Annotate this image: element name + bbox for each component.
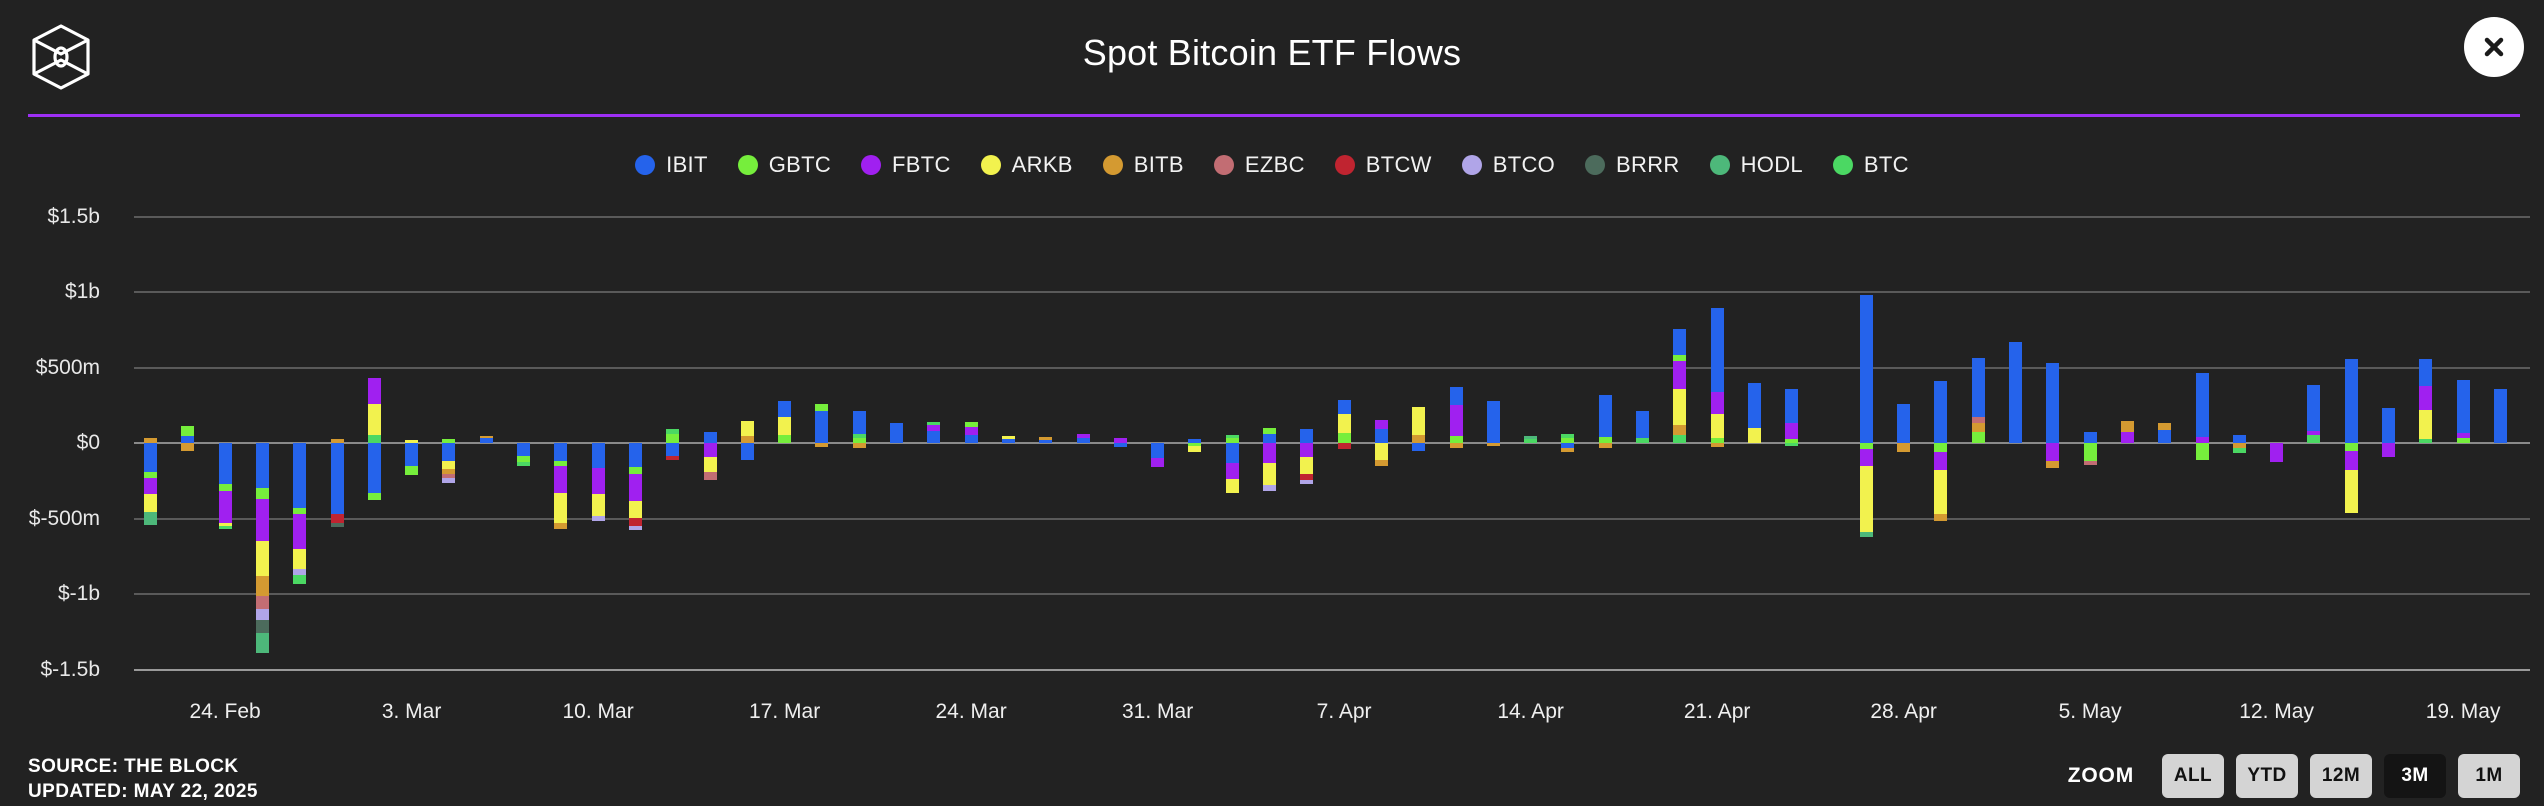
chart-bar[interactable] <box>405 0 418 806</box>
chart-bar[interactable] <box>293 0 306 806</box>
bar-segment <box>741 436 754 443</box>
bar-segment <box>2084 461 2097 465</box>
bar-segment <box>1524 436 1537 439</box>
bar-segment <box>368 493 381 500</box>
chart-bar[interactable] <box>965 0 978 806</box>
bar-segment <box>778 435 791 443</box>
bar-segment <box>1300 480 1313 484</box>
bar-segment <box>1412 407 1425 436</box>
chart-bar[interactable] <box>1151 0 1164 806</box>
bar-segment <box>1226 463 1239 480</box>
bar-segment <box>1338 443 1351 449</box>
bar-segment <box>927 431 940 443</box>
bar-segment <box>2494 389 2507 443</box>
bar-segment <box>1226 479 1239 493</box>
bar-segment <box>256 488 269 499</box>
bar-segment <box>219 484 232 492</box>
bar-segment <box>965 422 978 427</box>
bar-segment <box>181 443 194 451</box>
bar-segment <box>1785 443 1798 446</box>
chart-bar[interactable] <box>442 0 455 806</box>
bar-segment <box>256 596 269 610</box>
bar-segment <box>144 443 157 472</box>
bar-segment <box>442 443 455 461</box>
chart-bar[interactable] <box>1375 0 1388 806</box>
bar-segment <box>256 576 269 596</box>
chart-bar[interactable] <box>2196 0 2209 806</box>
bar-segment <box>2419 410 2432 439</box>
bar-segment <box>1487 401 1500 443</box>
chart-bar[interactable] <box>219 0 232 806</box>
chart-bar[interactable] <box>554 0 567 806</box>
chart-bar[interactable] <box>1748 0 1761 806</box>
bar-segment <box>1748 428 1761 443</box>
bar-segment <box>554 466 567 493</box>
bar-segment <box>1412 443 1425 451</box>
bar-segment <box>1860 466 1873 532</box>
chart-bar[interactable] <box>2270 0 2283 806</box>
y-axis-tick-label: $-1b <box>0 582 100 606</box>
bar-segment <box>2419 439 2432 443</box>
bar-segment <box>368 378 381 404</box>
bar-segment <box>2270 443 2283 462</box>
chart-plot-area: $1.5b$1b$500m$0$-500m$-1b$-1.5b24. Feb3.… <box>0 0 2544 806</box>
chart-bar[interactable] <box>1673 0 1686 806</box>
bar-segment <box>1934 470 1947 514</box>
bar-segment <box>1151 458 1164 467</box>
chart-bar[interactable] <box>1114 0 1127 806</box>
bar-segment <box>2009 342 2022 443</box>
chart-bar[interactable] <box>2419 0 2432 806</box>
bar-segment <box>1972 358 1985 417</box>
bar-segment <box>2084 432 2097 443</box>
bar-segment <box>181 436 194 443</box>
bar-segment <box>1039 440 1052 443</box>
bar-segment <box>1226 435 1239 439</box>
bar-segment <box>1673 355 1686 362</box>
bar-segment <box>1412 435 1425 443</box>
source-line: SOURCE: THE BLOCK <box>28 754 258 779</box>
bar-segment <box>1785 389 1798 422</box>
bar-segment <box>2457 380 2470 434</box>
bar-segment <box>1300 429 1313 443</box>
bar-segment <box>1226 443 1239 463</box>
bar-segment <box>2382 408 2395 443</box>
bar-segment <box>1188 446 1201 452</box>
bar-segment <box>2419 359 2432 385</box>
bar-segment <box>368 404 381 434</box>
bar-segment <box>405 466 418 475</box>
bar-segment <box>331 514 344 523</box>
chart-bar[interactable] <box>2382 0 2395 806</box>
bar-segment <box>1263 443 1276 463</box>
bar-segment <box>815 443 828 447</box>
bar-segment <box>927 422 940 425</box>
bar-segment <box>1077 438 1090 443</box>
bar-segment <box>219 491 232 523</box>
zoom-controls: ZOOM ALLYTD12M3M1M <box>2068 754 2520 798</box>
bar-segment <box>256 633 269 653</box>
bar-segment <box>368 443 381 493</box>
bar-segment <box>1673 361 1686 388</box>
zoom-label: ZOOM <box>2068 764 2134 788</box>
y-axis-tick-label: $0 <box>0 431 100 455</box>
bar-segment <box>1897 443 1910 452</box>
bar-segment <box>890 423 903 443</box>
bar-segment <box>1300 443 1313 457</box>
y-axis-tick-label: $-500m <box>0 507 100 531</box>
chart-bar[interactable] <box>181 0 194 806</box>
chart-bar[interactable] <box>331 0 344 806</box>
bar-segment <box>2457 438 2470 443</box>
bar-segment <box>1711 414 1724 438</box>
zoom-button-3m[interactable]: 3M <box>2384 754 2446 798</box>
chart-bar[interactable] <box>1972 0 1985 806</box>
bar-segment <box>592 443 605 468</box>
bar-segment <box>741 443 754 460</box>
chart-bar[interactable] <box>2158 0 2171 806</box>
bar-segment <box>1002 436 1015 439</box>
chart-bar[interactable] <box>2307 0 2320 806</box>
bar-segment <box>1375 443 1388 460</box>
chart-bar[interactable] <box>853 0 866 806</box>
bar-segment <box>2158 423 2171 430</box>
bar-segment <box>704 432 717 443</box>
bar-segment <box>1561 434 1574 439</box>
bar-segment <box>1375 420 1388 429</box>
bar-segment <box>405 443 418 466</box>
bar-segment <box>480 438 493 443</box>
chart-bar[interactable] <box>2457 0 2470 806</box>
bar-segment <box>2233 435 2246 443</box>
chart-bar[interactable] <box>368 0 381 806</box>
chart-bar[interactable] <box>256 0 269 806</box>
chart-bar[interactable] <box>480 0 493 806</box>
bar-segment <box>592 516 605 521</box>
chart-bar[interactable] <box>144 0 157 806</box>
bar-segment <box>1263 428 1276 434</box>
bar-segment <box>1711 308 1724 392</box>
bar-segment <box>815 404 828 411</box>
chart-bar[interactable] <box>1338 0 1351 806</box>
chart-bar[interactable] <box>1226 0 1239 806</box>
y-axis-tick-label: $1.5b <box>0 205 100 229</box>
chart-bar[interactable] <box>1823 0 1836 806</box>
chart-bar[interactable] <box>1188 0 1201 806</box>
bar-segment <box>1599 395 1612 437</box>
bar-segment <box>2233 448 2246 453</box>
bar-segment <box>1785 423 1798 440</box>
bar-segment <box>442 461 455 469</box>
bar-segment <box>1860 449 1873 466</box>
chart-modal: Spot Bitcoin ETF Flows IBITGBTCFBTCARKBB… <box>0 0 2544 806</box>
bar-segment <box>1263 434 1276 443</box>
bar-segment <box>2046 461 2059 468</box>
bar-segment <box>331 523 344 527</box>
chart-bar[interactable] <box>1524 0 1537 806</box>
chart-bar[interactable] <box>2494 0 2507 806</box>
bar-segment <box>1897 404 1910 443</box>
bar-segment <box>1972 432 1985 443</box>
chart-bar[interactable] <box>629 0 642 806</box>
bar-segment <box>1263 463 1276 486</box>
bar-segment <box>1673 425 1686 436</box>
bar-segment <box>1450 443 1463 448</box>
bar-segment <box>293 575 306 584</box>
bar-segment <box>1934 514 1947 521</box>
bar-segment <box>2345 443 2358 451</box>
updated-line: UPDATED: MAY 22, 2025 <box>28 779 258 804</box>
bar-segment <box>2345 359 2358 443</box>
chart-bar[interactable] <box>890 0 903 806</box>
bar-segment <box>1375 460 1388 466</box>
bar-segment <box>144 478 157 495</box>
zoom-button-all[interactable]: ALL <box>2162 754 2224 798</box>
bar-segment <box>517 443 530 456</box>
chart-bar[interactable] <box>2121 0 2134 806</box>
bar-segment <box>927 425 940 431</box>
bar-segment <box>1524 439 1537 443</box>
bar-segment <box>2046 363 2059 443</box>
bar-segment <box>2307 385 2320 431</box>
bar-segment <box>778 401 791 416</box>
chart-source-note: SOURCE: THE BLOCK UPDATED: MAY 22, 2025 <box>28 754 258 804</box>
bar-segment <box>2084 443 2097 461</box>
bar-segment <box>256 541 269 576</box>
bar-segment <box>815 411 828 443</box>
chart-bar[interactable] <box>1487 0 1500 806</box>
chart-bar[interactable] <box>1636 0 1649 806</box>
bar-segment <box>2196 443 2209 460</box>
bar-segment <box>592 494 605 516</box>
bar-segment <box>704 457 717 471</box>
bar-segment <box>554 443 567 461</box>
bar-segment <box>1039 437 1052 440</box>
bar-segment <box>554 523 567 529</box>
bar-segment <box>1599 443 1612 448</box>
bar-segment <box>1263 485 1276 491</box>
bar-segment <box>2046 443 2059 461</box>
bar-segment <box>592 468 605 494</box>
bar-segment <box>1450 387 1463 405</box>
bar-segment <box>293 443 306 508</box>
bar-segment <box>1450 405 1463 436</box>
bar-segment <box>1375 429 1388 443</box>
bar-segment <box>1972 417 1985 423</box>
bar-segment <box>1151 443 1164 458</box>
bar-segment <box>2196 373 2209 437</box>
bar-segment <box>2158 430 2171 443</box>
bar-segment <box>1077 434 1090 439</box>
bar-segment <box>778 417 791 435</box>
chart-bar[interactable] <box>1002 0 1015 806</box>
bar-segment <box>629 518 642 526</box>
bar-segment <box>1338 414 1351 434</box>
bar-segment <box>666 456 679 460</box>
bar-segment <box>666 434 679 443</box>
bar-segment <box>442 478 455 483</box>
bar-segment <box>181 426 194 436</box>
bar-segment <box>2121 421 2134 432</box>
zoom-button-1m[interactable]: 1M <box>2458 754 2520 798</box>
bar-segment <box>1972 423 1985 432</box>
chart-bar[interactable] <box>1263 0 1276 806</box>
chart-bar[interactable] <box>1561 0 1574 806</box>
bar-segment <box>1711 443 1724 447</box>
bar-segment <box>256 609 269 620</box>
bar-segment <box>965 435 978 443</box>
chart-bar[interactable] <box>592 0 605 806</box>
bar-segment <box>1002 439 1015 443</box>
bar-segment <box>2307 431 2320 436</box>
bar-segment <box>368 435 381 443</box>
bar-segment <box>256 499 269 541</box>
bar-segment <box>2457 433 2470 438</box>
chart-bar[interactable] <box>778 0 791 806</box>
chart-bar[interactable] <box>1785 0 1798 806</box>
bar-segment <box>1860 295 1873 443</box>
bar-segment <box>1860 532 1873 537</box>
chart-bar[interactable] <box>2046 0 2059 806</box>
bar-segment <box>666 443 679 456</box>
y-axis-tick-label: $1b <box>0 280 100 304</box>
bar-segment <box>965 427 978 435</box>
zoom-button-ytd[interactable]: YTD <box>2236 754 2298 798</box>
bar-segment <box>629 443 642 467</box>
bar-segment <box>256 443 269 488</box>
bar-segment <box>331 443 344 514</box>
y-axis-tick-label: $-1.5b <box>0 658 100 682</box>
bar-segment <box>554 493 567 523</box>
bar-segment <box>1338 433 1351 443</box>
bar-segment <box>629 526 642 530</box>
bar-segment <box>1673 329 1686 355</box>
bar-segment <box>256 620 269 633</box>
bar-segment <box>704 472 717 480</box>
bar-segment <box>1934 381 1947 443</box>
y-axis-tick-label: $500m <box>0 356 100 380</box>
chart-bar[interactable] <box>1897 0 1910 806</box>
bar-segment <box>666 429 679 434</box>
bar-segment <box>1934 443 1947 452</box>
bar-segment <box>517 462 530 467</box>
chart-bar[interactable] <box>1934 0 1947 806</box>
chart-bar[interactable] <box>815 0 828 806</box>
chart-bar[interactable] <box>1077 0 1090 806</box>
bar-segment <box>1450 436 1463 443</box>
bar-segment <box>704 443 717 457</box>
chart-bar[interactable] <box>1300 0 1313 806</box>
chart-bar[interactable] <box>2233 0 2246 806</box>
zoom-button-12m[interactable]: 12M <box>2310 754 2372 798</box>
bar-segment <box>1561 448 1574 453</box>
bar-segment <box>219 443 232 484</box>
bar-segment <box>1673 435 1686 443</box>
bar-segment <box>1636 438 1649 443</box>
bar-segment <box>2382 443 2395 457</box>
bar-segment <box>293 514 306 549</box>
bar-segment <box>293 549 306 569</box>
bar-segment <box>629 474 642 501</box>
chart-bar[interactable] <box>741 0 754 806</box>
bar-segment <box>1934 452 1947 470</box>
chart-bar[interactable] <box>1450 0 1463 806</box>
bar-segment <box>1748 383 1761 428</box>
chart-bar[interactable] <box>1860 0 1873 806</box>
bar-segment <box>629 501 642 518</box>
bar-segment <box>1487 443 1500 446</box>
bar-segment <box>2419 386 2432 410</box>
chart-bar[interactable] <box>927 0 940 806</box>
chart-bar[interactable] <box>2084 0 2097 806</box>
bar-segment <box>853 443 866 448</box>
chart-bar[interactable] <box>1039 0 1052 806</box>
chart-bar[interactable] <box>666 0 679 806</box>
bar-segment <box>2121 432 2134 443</box>
chart-bar[interactable] <box>1412 0 1425 806</box>
bar-segment <box>741 421 754 436</box>
chart-bar[interactable] <box>2345 0 2358 806</box>
bar-segment <box>2307 435 2320 443</box>
chart-bar[interactable] <box>1599 0 1612 806</box>
bar-segment <box>2345 451 2358 471</box>
bar-segment <box>853 434 866 439</box>
bar-segment <box>1114 443 1127 447</box>
chart-bar[interactable] <box>2009 0 2022 806</box>
bar-segment <box>1636 411 1649 438</box>
bar-segment <box>144 512 157 524</box>
bar-segment <box>480 436 493 438</box>
bar-segment <box>629 467 642 474</box>
bar-segment <box>219 526 232 529</box>
bar-segment <box>1711 392 1724 415</box>
bar-segment <box>2345 470 2358 513</box>
chart-bar[interactable] <box>1711 0 1724 806</box>
bar-segment <box>853 411 866 434</box>
bar-segment <box>1673 389 1686 425</box>
chart-bar[interactable] <box>704 0 717 806</box>
bar-segment <box>1300 457 1313 474</box>
chart-bar[interactable] <box>517 0 530 806</box>
bar-segment <box>1338 400 1351 414</box>
bar-segment <box>144 494 157 512</box>
